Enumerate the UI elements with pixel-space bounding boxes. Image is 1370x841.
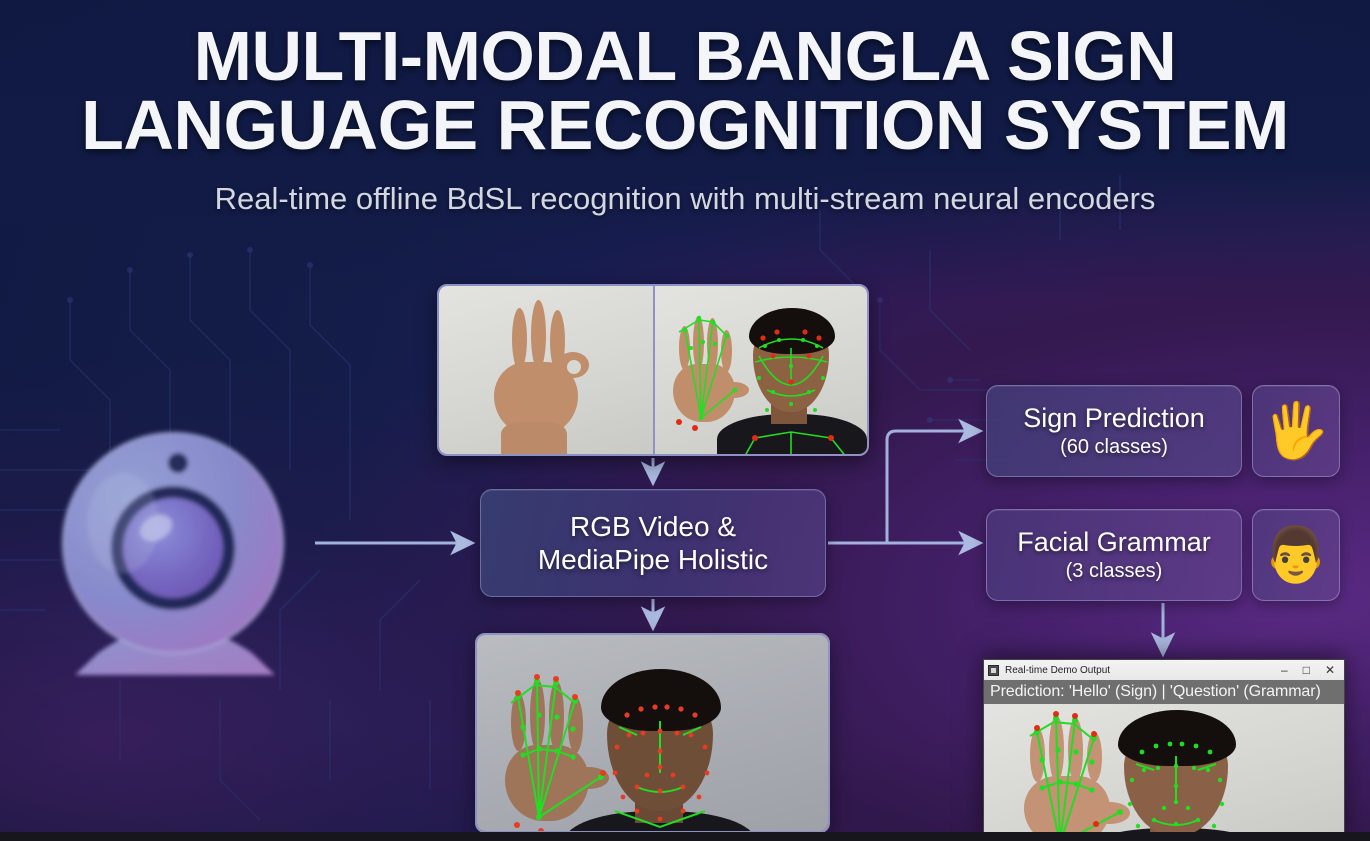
node-sign-sublabel: (60 classes): [1060, 435, 1168, 459]
man-face-emoji-glyph: 👨: [1262, 528, 1329, 582]
processed-video-panel: [475, 633, 830, 833]
window-title-bar[interactable]: Real-time Demo Output – □ ✕: [984, 660, 1344, 680]
page-title: MULTI-MODAL BANGLA SIGN LANGUAGE RECOGNI…: [0, 0, 1370, 159]
node-rgb-line-1: RGB Video &: [570, 510, 736, 543]
poster-stage: MULTI-MODAL BANGLA SIGN LANGUAGE RECOGNI…: [0, 0, 1370, 841]
page-subtitle: Real-time offline BdSL recognition with …: [0, 181, 1370, 217]
node-facial-sublabel: (3 classes): [1066, 559, 1163, 583]
node-sign-label: Sign Prediction: [1023, 403, 1205, 435]
app-icon: [988, 665, 999, 676]
mediapipe-landmarks: [477, 635, 828, 831]
node-rgb-video-mediapipe[interactable]: RGB Video & MediaPipe Holistic: [480, 489, 826, 597]
title-line-2: LANGUAGE RECOGNITION SYSTEM: [0, 91, 1370, 160]
node-facial-grammar[interactable]: Facial Grammar (3 classes): [986, 509, 1242, 601]
video-holistic-tracking: [477, 635, 828, 831]
minimize-button[interactable]: –: [1281, 664, 1288, 676]
video-landmark-overlay: [653, 286, 867, 454]
maximize-button[interactable]: □: [1303, 664, 1310, 676]
raised-hand-emoji: 🖐️: [1252, 385, 1340, 477]
node-facial-label: Facial Grammar: [1017, 527, 1211, 559]
bottom-edge-strip: [0, 832, 1370, 841]
mediapipe-landmarks: [655, 286, 867, 454]
man-face-emoji: 👨: [1252, 509, 1340, 601]
poster-header: MULTI-MODAL BANGLA SIGN LANGUAGE RECOGNI…: [0, 0, 1370, 217]
demo-video-feed: [984, 704, 1344, 841]
node-sign-prediction[interactable]: Sign Prediction (60 classes): [986, 385, 1242, 477]
video-raw-hand: [439, 286, 653, 454]
title-line-1: MULTI-MODAL BANGLA SIGN: [194, 17, 1177, 95]
input-video-panel: [437, 284, 869, 456]
window-title: Real-time Demo Output: [1005, 665, 1110, 676]
demo-output-window[interactable]: Real-time Demo Output – □ ✕ Prediction: …: [983, 659, 1345, 841]
mediapipe-landmarks: [984, 704, 1344, 841]
raised-hand-emoji-glyph: 🖐️: [1262, 404, 1329, 458]
close-button[interactable]: ✕: [1325, 664, 1335, 676]
prediction-status-bar: Prediction: 'Hello' (Sign) | 'Question' …: [984, 680, 1344, 704]
node-rgb-line-2: MediaPipe Holistic: [538, 543, 768, 576]
webcam-icon: [40, 403, 310, 693]
